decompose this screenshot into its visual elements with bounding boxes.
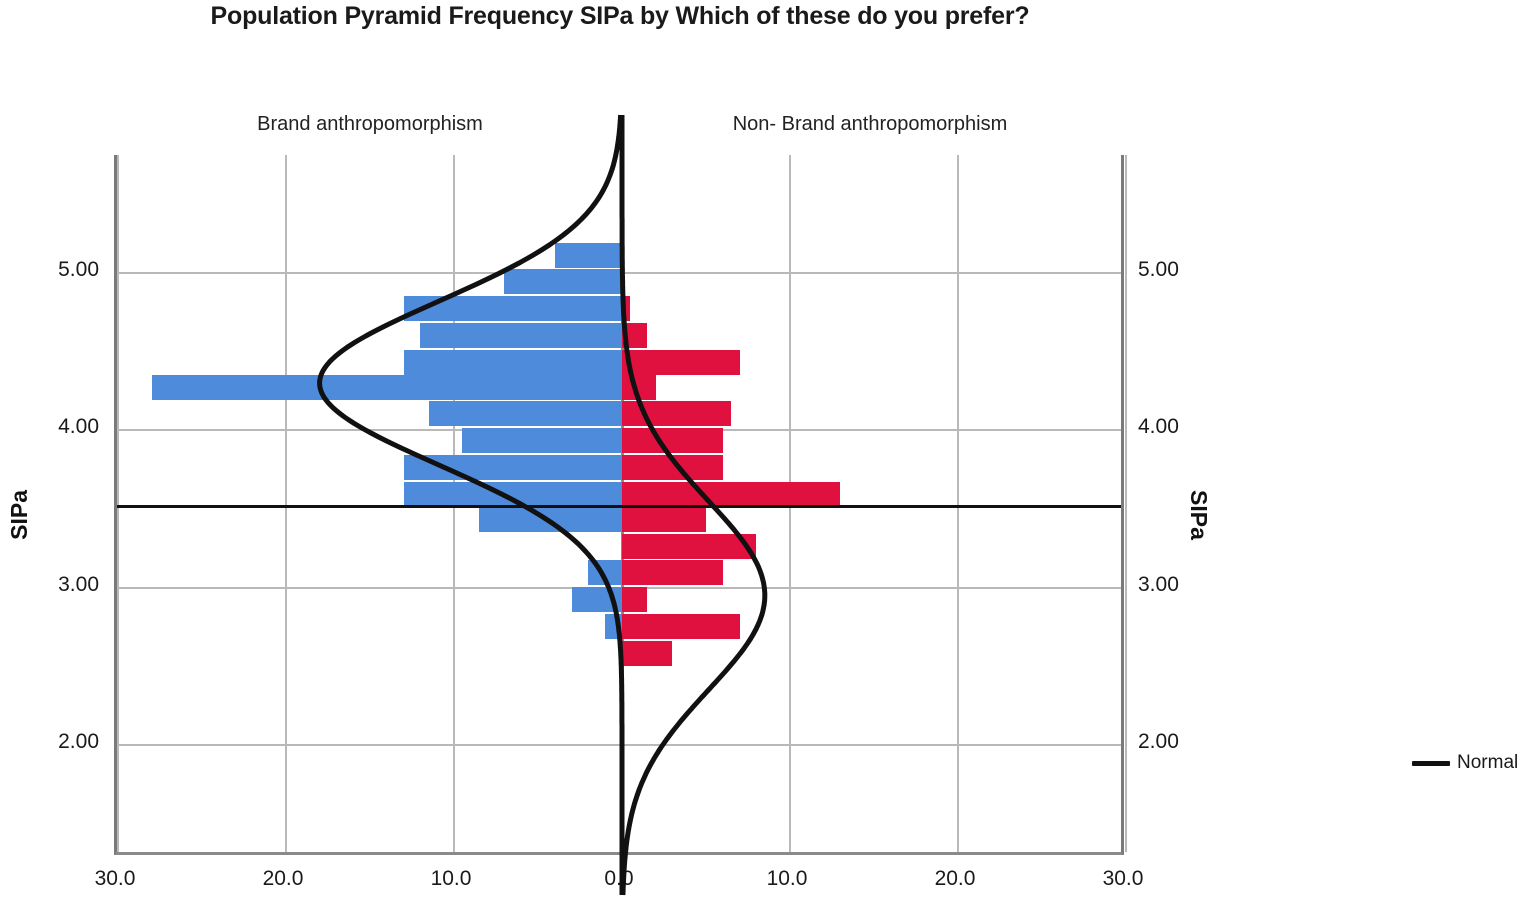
x-tick-label: 20.0 (238, 867, 328, 891)
panel-title-left: Brand anthropomorphism (120, 113, 620, 136)
y-tick-label-right: 3.00 (1138, 573, 1228, 597)
y-tick-label-right: 2.00 (1138, 730, 1228, 754)
y-tick-label-right: 4.00 (1138, 415, 1228, 439)
y-tick-label-left: 2.00 (9, 730, 99, 754)
y-axis-title-right: SIPa (1185, 490, 1212, 540)
y-tick-label-left: 3.00 (9, 573, 99, 597)
x-tick-label: 30.0 (70, 867, 160, 891)
reference-line (117, 505, 1121, 508)
normal-curve-line-icon (1412, 761, 1450, 766)
x-tick-label: 20.0 (910, 867, 1000, 891)
population-pyramid-chart: Population Pyramid Frequency SIPa by Whi… (0, 0, 1535, 906)
panel-title-right: Non- Brand anthropomorphism (620, 113, 1120, 136)
x-tick-label: 0.0 (574, 867, 664, 891)
x-tick-label: 10.0 (742, 867, 832, 891)
y-axis-title-left: SIPa (6, 490, 33, 540)
y-tick-label-left: 4.00 (9, 415, 99, 439)
legend: Normal (1412, 752, 1518, 774)
y-tick-label-right: 5.00 (1138, 258, 1228, 282)
page-title: Population Pyramid Frequency SIPa by Whi… (0, 2, 1240, 31)
y-tick-label-left: 5.00 (9, 258, 99, 282)
x-tick-label: 10.0 (406, 867, 496, 891)
x-tick-label: 30.0 (1078, 867, 1168, 891)
plot-area (114, 155, 1124, 855)
legend-label: Normal (1457, 752, 1518, 774)
